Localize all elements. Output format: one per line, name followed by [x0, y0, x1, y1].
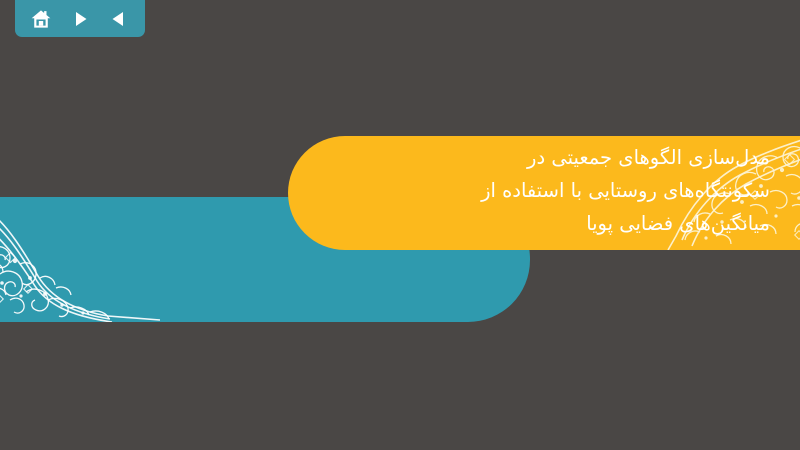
arabesque-corner-ornament-teal: [0, 204, 160, 322]
home-button[interactable]: [26, 4, 56, 34]
title-line-2: سکونتگاه‌های روستایی با استفاده از: [288, 174, 770, 207]
home-icon: [30, 8, 52, 30]
back-button[interactable]: [104, 4, 134, 34]
title-line-1: مدل‌سازی الگوهای جمعیتی در: [288, 141, 770, 174]
navigation-bar: [15, 0, 145, 37]
title-line-3: میانگین‌های فضایی پویا: [288, 207, 770, 240]
forward-arrow-icon: [70, 9, 90, 29]
forward-button[interactable]: [65, 4, 95, 34]
back-arrow-icon: [109, 9, 129, 29]
slide-title: مدل‌سازی الگوهای جمعیتی در سکونتگاه‌های …: [288, 134, 788, 254]
slide-canvas: مدل‌سازی الگوهای جمعیتی در سکونتگاه‌های …: [0, 0, 800, 450]
